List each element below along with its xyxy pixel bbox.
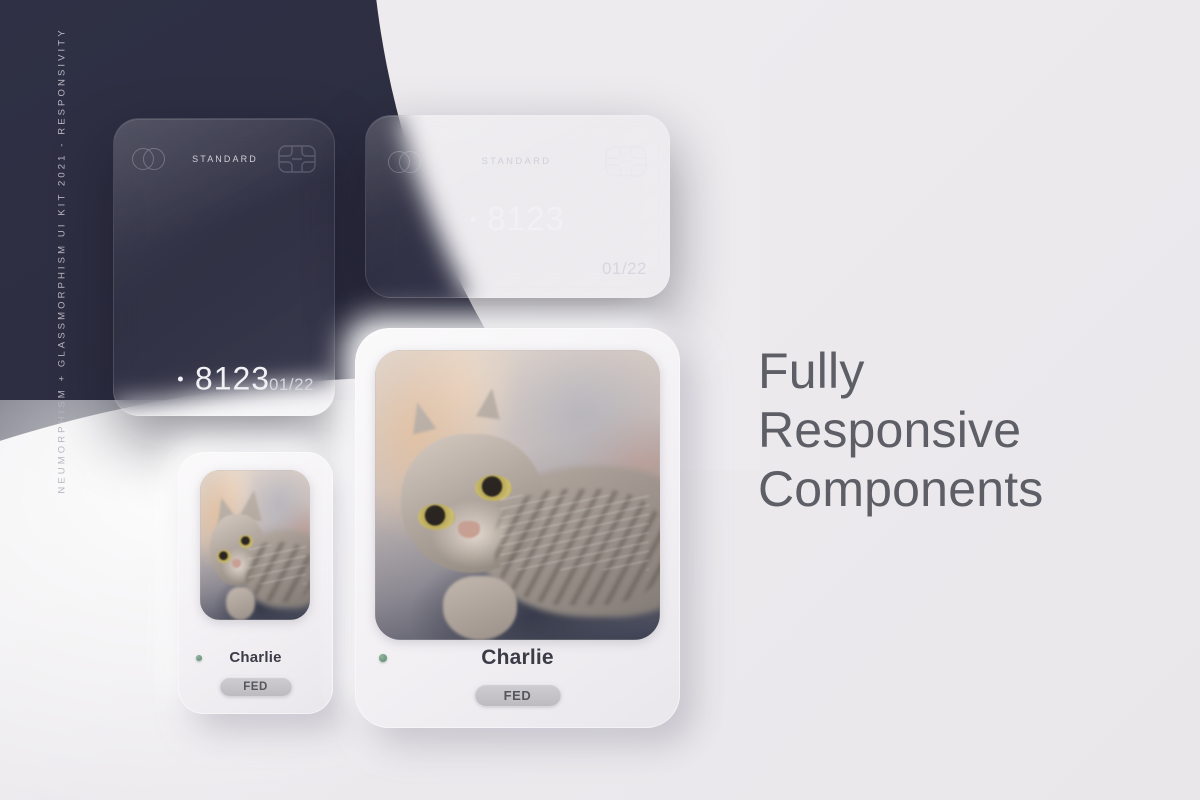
status-dot-icon <box>196 655 202 661</box>
headline: Fully Responsive Components <box>758 342 1044 519</box>
pet-card-small[interactable]: Charlie FED <box>178 452 333 714</box>
headline-line-2: Responsive <box>758 401 1044 460</box>
headline-line-1: Fully <box>758 342 1044 401</box>
card-number: 8123 <box>178 361 270 398</box>
card-expiry: 01/22 <box>269 375 314 395</box>
headline-line-3: Components <box>758 460 1044 519</box>
card-tier-label: STANDARD <box>482 156 552 167</box>
card-number-dot <box>470 217 475 222</box>
chip-icon <box>605 146 647 177</box>
pet-photo-frame <box>375 350 660 640</box>
pet-name: Charlie <box>229 649 281 666</box>
status-badge[interactable]: FED <box>475 684 561 706</box>
pet-photo-frame <box>200 470 310 620</box>
status-badge[interactable]: FED <box>220 677 292 696</box>
card-number: 8123 <box>470 200 564 238</box>
side-caption: NEUMORPHISM + GLASSMORPHISM UI KIT 2021 … <box>57 1 68 521</box>
pet-name-row: Charlie <box>178 649 333 666</box>
pet-name: Charlie <box>481 646 554 670</box>
status-dot-icon <box>379 654 387 662</box>
glass-card-vertical[interactable]: STANDARD 8123 01/22 <box>113 118 335 416</box>
card-header: STANDARD <box>366 116 669 177</box>
pet-name-row: Charlie <box>355 646 680 670</box>
canvas: NEUMORPHISM + GLASSMORPHISM UI KIT 2021 … <box>0 0 1200 800</box>
two-rings-logo-icon <box>388 151 428 173</box>
glass-card-horizontal[interactable]: STANDARD 8123 01/22 <box>365 115 670 298</box>
card-tier-label: STANDARD <box>192 154 258 164</box>
card-expiry: 01/22 <box>602 259 647 279</box>
card-number-dot <box>178 377 183 382</box>
card-number-value: 8123 <box>195 361 270 398</box>
card-number-value: 8123 <box>487 200 564 238</box>
card-header: STANDARD <box>114 119 334 173</box>
cat-photo <box>200 470 310 620</box>
chip-icon <box>278 145 316 173</box>
cat-photo <box>375 350 660 640</box>
pet-card-large[interactable]: Charlie FED <box>355 328 680 728</box>
two-rings-logo-icon <box>132 148 172 170</box>
